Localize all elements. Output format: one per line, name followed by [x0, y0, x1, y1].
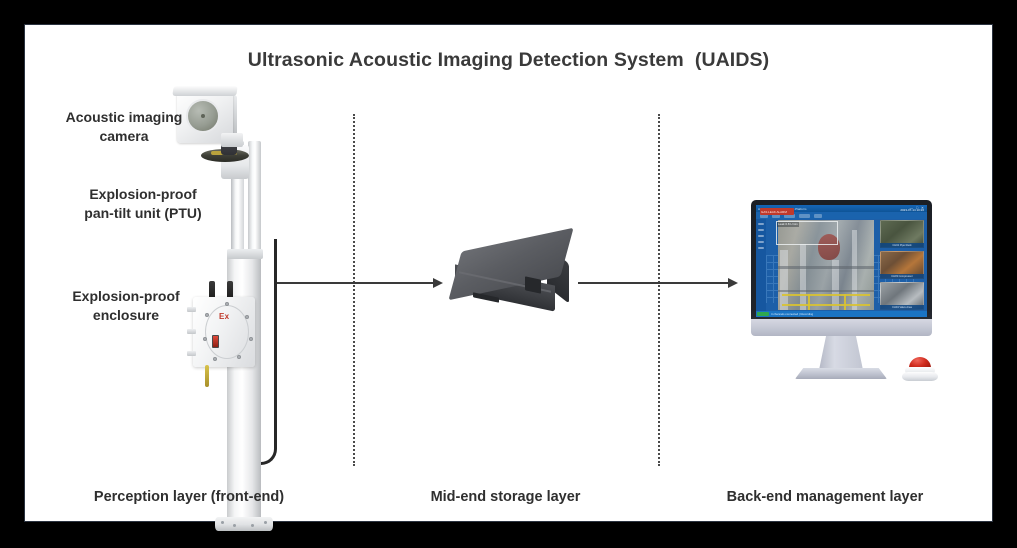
- beacon-base: [902, 372, 938, 381]
- scene-beam: [778, 266, 874, 269]
- diagram-root: Ultrasonic Acoustic Imaging Detection Sy…: [0, 0, 1017, 548]
- scene-handrail: [782, 294, 870, 296]
- management-workstation: Acoustic Imaging Detection Platform — □ …: [725, 200, 945, 400]
- enclosure-side-lug: [187, 351, 196, 356]
- status-text: 4 channels connected | Recording: [771, 312, 813, 317]
- thumbnail-caption-2: CH03 Compressor: [880, 274, 924, 279]
- flange-bolt-icon: [233, 524, 236, 527]
- alarm-banner-text: GAS LEAK ALARM: [761, 209, 787, 215]
- label-acoustic-imaging-camera: Acoustic imaging camera: [34, 108, 214, 146]
- enclosure-side-lug: [187, 329, 196, 334]
- section-divider-1: [353, 114, 355, 466]
- toolbar-item-device[interactable]: [799, 214, 810, 218]
- app-sidebar[interactable]: [756, 219, 766, 311]
- monitor-chin: [751, 319, 932, 336]
- cable-yellow-sleeve: [205, 365, 209, 387]
- monitor-stand-neck: [819, 336, 863, 370]
- diagram-panel: Ultrasonic Acoustic Imaging Detection Sy…: [24, 24, 993, 522]
- scene-pipe: [780, 250, 788, 310]
- caption-management-layer: Back-end management layer: [658, 489, 992, 505]
- detection-label: Leak 0.8 L/min: [777, 222, 799, 227]
- arrow-storage-to-management: [578, 278, 738, 288]
- section-divider-2: [658, 114, 660, 466]
- sidebar-item-4[interactable]: [758, 241, 764, 243]
- enclosure-status-indicator: [212, 335, 219, 348]
- enclosure-bolt-icon: [245, 315, 249, 319]
- scene-handrail-post: [844, 294, 846, 310]
- audible-visual-alarm-beacon: [901, 355, 939, 385]
- arrow-perception-to-storage: [276, 278, 443, 288]
- scene-handrail-post: [808, 294, 810, 310]
- status-online-chip: [757, 312, 769, 316]
- flange-bolt-icon: [264, 521, 267, 524]
- monitor-stand-base: [795, 368, 887, 379]
- enclosure-bolt-icon: [213, 357, 217, 361]
- riser-tube-right: [248, 141, 261, 259]
- camera-sunshade: [172, 86, 237, 96]
- caption-storage-layer: Mid-end storage layer: [353, 489, 658, 505]
- sidebar-item-3[interactable]: [758, 235, 764, 237]
- thumbnail-caption-3: CH04 Valve Area: [880, 305, 924, 310]
- sidebar-item-5[interactable]: [758, 247, 764, 249]
- sidebar-item-2[interactable]: [758, 229, 764, 231]
- sidebar-item-1[interactable]: [758, 223, 764, 225]
- arrow-shaft: [276, 282, 434, 284]
- app-statusbar: 4 channels connected | Recording: [756, 311, 927, 317]
- diagram-title: Ultrasonic Acoustic Imaging Detection Sy…: [25, 49, 992, 72]
- scene-pipe: [852, 230, 857, 310]
- thumbnail-caption-1: CH02 Pipe Rack: [880, 243, 924, 248]
- enclosure-bolt-icon: [249, 337, 253, 341]
- camera-mount-bracket: [221, 133, 243, 147]
- enclosure-bolt-icon: [237, 355, 241, 359]
- thumbnail-column: CH02 Pipe Rack CH03 Compressor CH04 Valv…: [878, 220, 927, 310]
- scene-beam: [778, 290, 874, 292]
- arrow-shaft: [578, 282, 729, 284]
- riser-collar: [227, 249, 263, 259]
- label-explosion-proof-enclosure: Explosion-proof enclosure: [31, 287, 221, 325]
- flange-bolt-icon: [251, 524, 254, 527]
- flange-bolt-icon: [221, 521, 224, 524]
- management-software-screen[interactable]: Acoustic Imaging Detection Platform — □ …: [756, 205, 927, 317]
- label-pan-tilt-unit: Explosion-proof pan-tilt unit (PTU): [53, 185, 233, 223]
- enclosure-bolt-icon: [225, 302, 229, 306]
- network-video-recorder: [443, 241, 579, 315]
- toolbar-item-tools[interactable]: [814, 214, 822, 218]
- enclosure-bolt-icon: [203, 337, 207, 341]
- arrow-head-icon: [433, 278, 443, 288]
- video-timestamp: 2023-07-14 10:26: [900, 208, 924, 213]
- caption-perception-layer: Perception layer (front-end): [25, 489, 353, 505]
- perception-layer-assembly: Ex: [165, 89, 295, 469]
- pole-base-flange: [215, 517, 273, 531]
- scene-pipe: [800, 244, 806, 310]
- scene-handrail: [782, 304, 870, 306]
